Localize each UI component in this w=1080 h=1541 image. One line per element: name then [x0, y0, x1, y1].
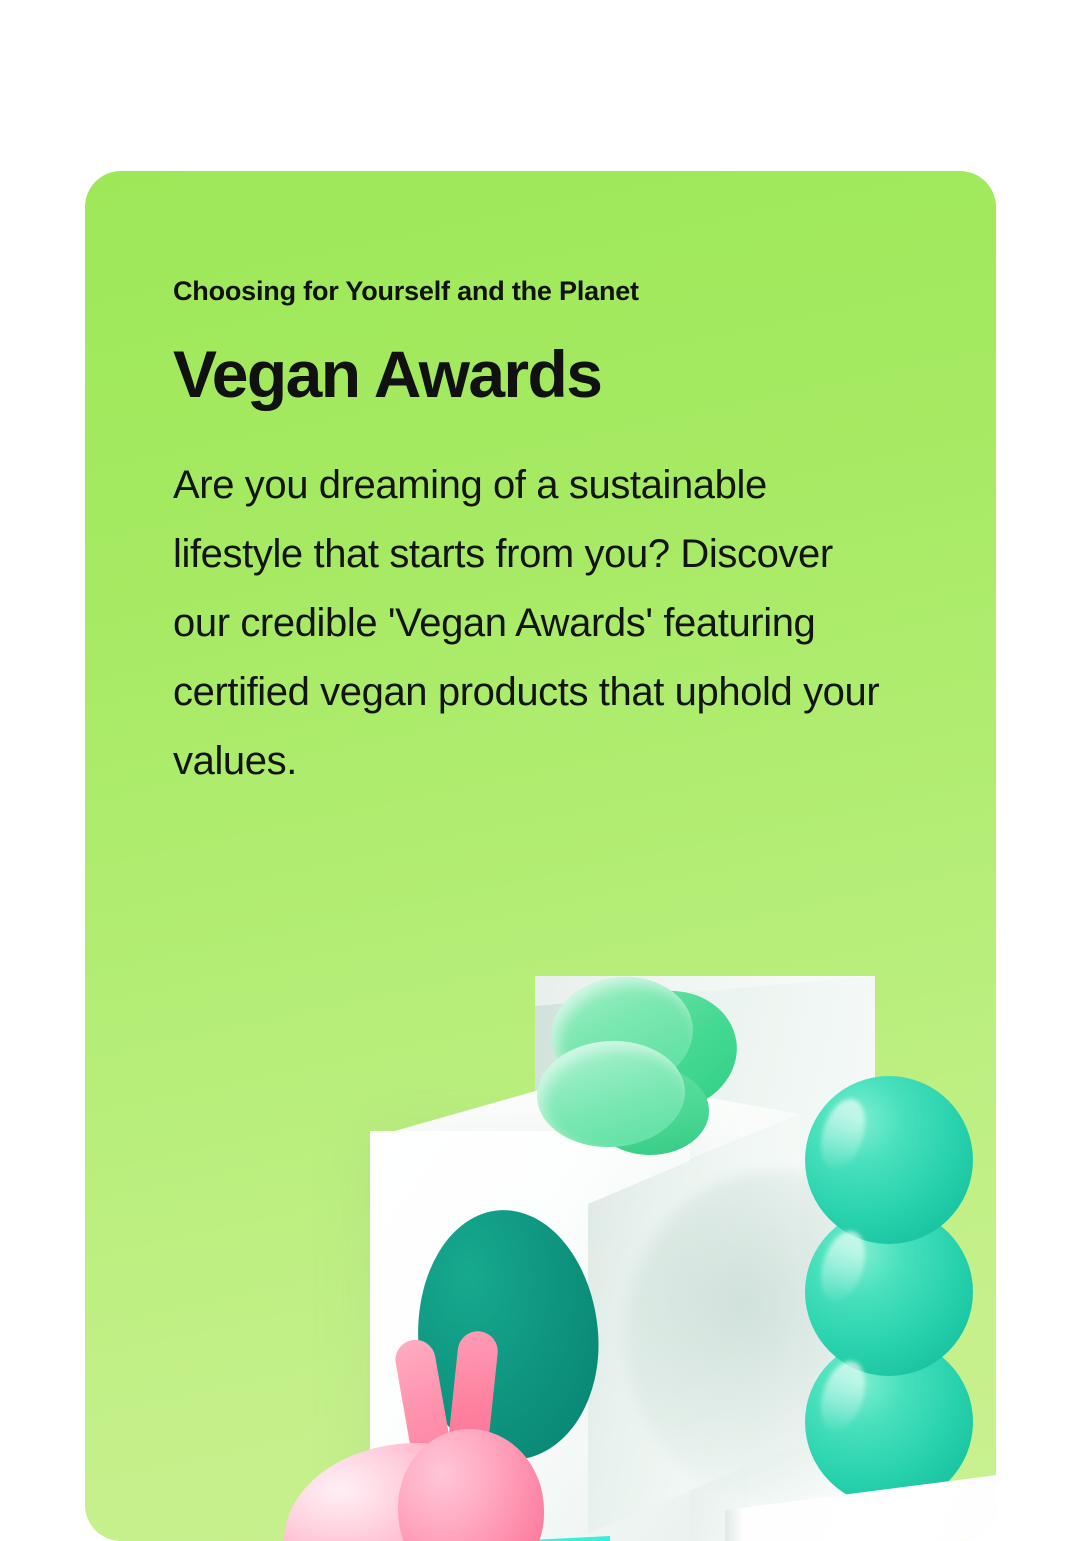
pink-bunny	[280, 1331, 570, 1541]
eyebrow-text: Choosing for Yourself and the Planet	[173, 277, 913, 307]
copy-block: Choosing for Yourself and the Planet Veg…	[173, 277, 913, 796]
green-popsicle	[805, 1076, 985, 1496]
poster-stage: Choosing for Yourself and the Planet Veg…	[0, 0, 1080, 1541]
body-text: Are you dreaming of a sustainable lifest…	[173, 451, 883, 796]
mint-clover-blob	[535, 971, 745, 1151]
vegan-awards-card[interactable]: Choosing for Yourself and the Planet Veg…	[85, 171, 996, 1541]
page-title: Vegan Awards	[173, 341, 913, 407]
